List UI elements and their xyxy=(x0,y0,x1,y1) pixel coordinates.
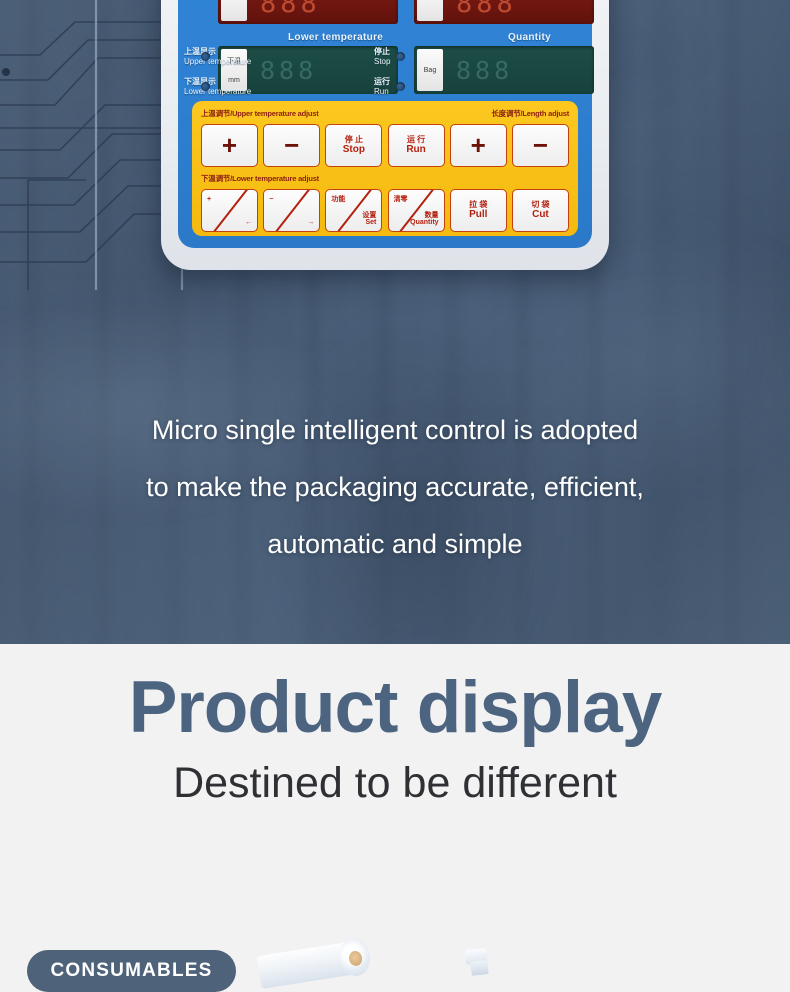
key-label-cn: 切 袋 xyxy=(531,201,549,209)
indicator-led-upper-temperature xyxy=(201,52,210,61)
key-label-bottom: → xyxy=(307,219,314,226)
page-title: Product display xyxy=(0,671,790,744)
display-tab xyxy=(221,0,247,21)
diagonal-divider-icon xyxy=(210,189,249,232)
key-label-en: Cut xyxy=(532,209,549,221)
key-label-top: 功能 xyxy=(331,196,345,203)
key-label-cn: 拉 袋 xyxy=(469,201,487,209)
key-label-bottom-cn: 设置 xyxy=(362,212,376,219)
key-label-en: Pull xyxy=(469,209,487,221)
keypad-title-row-2: 下温调节/Lower temperature adjust xyxy=(201,173,569,184)
keypad-row-2: + ← − → 功能 设置 Set xyxy=(201,189,569,232)
display-tab xyxy=(417,0,443,21)
length-adjust-label: 长度调节/Length adjust xyxy=(491,108,569,119)
hero-caption-line-3: automatic and simple xyxy=(0,516,790,573)
key-label-en: Stop xyxy=(343,144,365,156)
key-length-plus[interactable]: + xyxy=(450,124,507,167)
key-function-set[interactable]: 功能 设置 Set xyxy=(325,189,382,232)
indicator-led-lower-temperature xyxy=(201,82,210,91)
key-label-top: 清零 xyxy=(394,196,408,203)
panel-faceplate: 888 888 Lower temperature Quantity 下温 mm… xyxy=(178,0,592,248)
lower-temperature-label: Lower temperature xyxy=(288,32,383,43)
key-stop[interactable]: 停 止 Stop xyxy=(325,124,382,167)
keypad-title-row-1: 上温调节/Upper temperature adjust 长度调节/Lengt… xyxy=(201,108,569,119)
indicator-led-stop xyxy=(396,52,405,61)
key-lower-temp-minus[interactable]: − → xyxy=(263,189,320,232)
indicator-cn: 运行 xyxy=(374,77,390,87)
indicator-label-upper-temperature: 上温显示 Upper temperature xyxy=(184,47,251,67)
display-tab: Bag xyxy=(417,49,443,91)
page-subtitle: Destined to be different xyxy=(0,762,790,805)
key-pull[interactable]: 拉 袋 Pull xyxy=(450,189,507,232)
machine-control-panel: 888 888 Lower temperature Quantity 下温 mm… xyxy=(161,0,609,270)
indicator-label-stop: 停止 Stop xyxy=(374,47,390,67)
key-label-bottom: 数量 Quantity xyxy=(410,212,438,226)
indicator-en: Run xyxy=(374,87,389,96)
upper-temperature-display: 888 xyxy=(218,0,398,24)
product-image-accessory[interactable] xyxy=(462,949,496,975)
indicator-cn: 停止 xyxy=(374,47,390,57)
key-label-bottom-cn: 数量 xyxy=(425,212,439,219)
key-label-top: + xyxy=(207,196,211,203)
key-run[interactable]: 运 行 Run xyxy=(388,124,445,167)
key-upper-temp-plus[interactable]: + xyxy=(201,124,258,167)
indicator-led-run xyxy=(396,82,405,91)
key-label-cn: 运 行 xyxy=(407,136,425,144)
upper-temp-adjust-label: 上温调节/Upper temperature adjust xyxy=(201,108,319,119)
key-glyph-minus: − xyxy=(284,136,299,154)
key-upper-temp-minus[interactable]: − xyxy=(263,124,320,167)
keypad: 上温调节/Upper temperature adjust 长度调节/Lengt… xyxy=(192,101,578,236)
key-label-en: Run xyxy=(406,144,425,156)
key-glyph-plus: + xyxy=(222,136,237,154)
hero-caption-line-1: Micro single intelligent control is adop… xyxy=(0,402,790,459)
indicator-en: Upper temperature xyxy=(184,57,251,66)
hero-section: 888 888 Lower temperature Quantity 下温 mm… xyxy=(0,0,790,644)
key-label-top: − xyxy=(269,196,273,203)
tab-en: Bag xyxy=(424,67,436,74)
key-lower-temp-plus[interactable]: + ← xyxy=(201,189,258,232)
key-glyph-minus: − xyxy=(533,136,548,154)
key-glyph-plus: + xyxy=(471,136,486,154)
keypad-row-1: + − 停 止 Stop 运 行 Run + xyxy=(201,124,569,167)
product-display-section: Product display Destined to be different xyxy=(0,644,790,968)
category-badge-label: CONSUMABLES xyxy=(50,960,212,982)
diagonal-divider-icon xyxy=(272,189,311,232)
quantity-label: Quantity xyxy=(508,32,551,43)
lower-temp-adjust-label: 下温调节/Lower temperature adjust xyxy=(201,173,319,184)
key-clear-quantity[interactable]: 清零 数量 Quantity xyxy=(388,189,445,232)
key-label-bottom-en: Set xyxy=(365,219,376,226)
key-cut[interactable]: 切 袋 Cut xyxy=(512,189,569,232)
accessory-body xyxy=(470,960,488,976)
indicator-en: Stop xyxy=(374,57,390,66)
hero-caption-line-2: to make the packaging accurate, efficien… xyxy=(0,459,790,516)
quantity-display: Bag 888 xyxy=(414,46,594,94)
key-label-bottom: 设置 Set xyxy=(362,212,376,226)
key-label-bottom: ← xyxy=(245,219,252,226)
indicator-label-lower-temperature: 下温显示 Lower temperature xyxy=(184,77,251,97)
category-badge-consumables[interactable]: CONSUMABLES xyxy=(27,950,236,992)
key-length-minus[interactable]: − xyxy=(512,124,569,167)
indicator-label-run: 运行 Run xyxy=(374,77,390,97)
indicator-en: Lower temperature xyxy=(184,87,251,96)
indicator-cn: 下温显示 xyxy=(184,77,251,87)
key-label-bottom-en: Quantity xyxy=(410,219,438,226)
length-display: 888 xyxy=(414,0,594,24)
indicator-cn: 上温显示 xyxy=(184,47,251,57)
hero-caption: Micro single intelligent control is adop… xyxy=(0,402,790,573)
key-label-cn: 停 止 xyxy=(345,136,363,144)
